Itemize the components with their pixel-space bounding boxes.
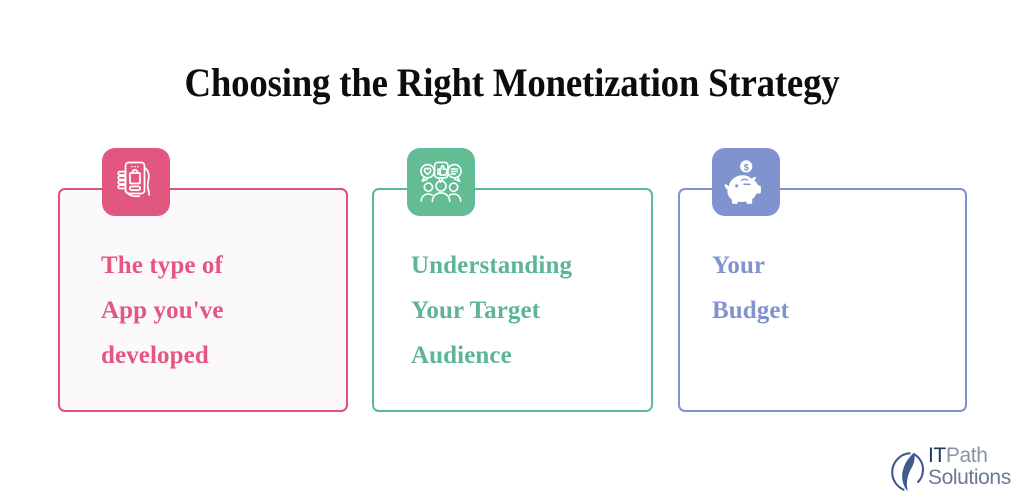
svg-text:$: $: [744, 162, 749, 172]
logo-text-path: Path: [946, 444, 988, 467]
card-budget-line-1: Your: [712, 243, 951, 288]
card-app-type-text: The type of App you've developed: [101, 243, 332, 378]
cards-row: The type of App you've developed: [0, 0, 1024, 497]
logo-text-solutions: Solutions: [928, 467, 1011, 489]
logo-text-it: IT: [928, 444, 946, 467]
card-target-audience-line-1: Understanding: [411, 243, 637, 288]
card-app-type-line-2: App you've: [101, 288, 332, 333]
card-target-audience-line-3: Audience: [411, 333, 637, 378]
card-budget-line-2: Budget: [712, 288, 951, 333]
card-budget[interactable]: Your Budget: [678, 188, 967, 412]
piggy-bank-coin-icon: $: [712, 148, 780, 216]
logo-line-itpath: ITPath: [928, 445, 1011, 467]
infographic-canvas: Choosing the Right Monetization Strategy…: [0, 0, 1024, 497]
logo-wordmark: ITPath Solutions: [928, 445, 1011, 489]
card-budget-text: Your Budget: [712, 243, 951, 333]
card-target-audience-text: Understanding Your Target Audience: [411, 243, 637, 378]
audience-feedback-people-icon: [407, 148, 475, 216]
itpath-crescent-mark: [884, 448, 930, 494]
card-app-type-line-1: The type of: [101, 243, 332, 288]
hand-holding-phone-shopping-bag-icon: [102, 148, 170, 216]
itpath-solutions-logo[interactable]: ITPath Solutions: [884, 444, 1024, 497]
card-app-type[interactable]: The type of App you've developed: [58, 188, 348, 412]
card-target-audience[interactable]: Understanding Your Target Audience: [372, 188, 653, 412]
card-app-type-line-3: developed: [101, 333, 332, 378]
card-target-audience-line-2: Your Target: [411, 288, 637, 333]
